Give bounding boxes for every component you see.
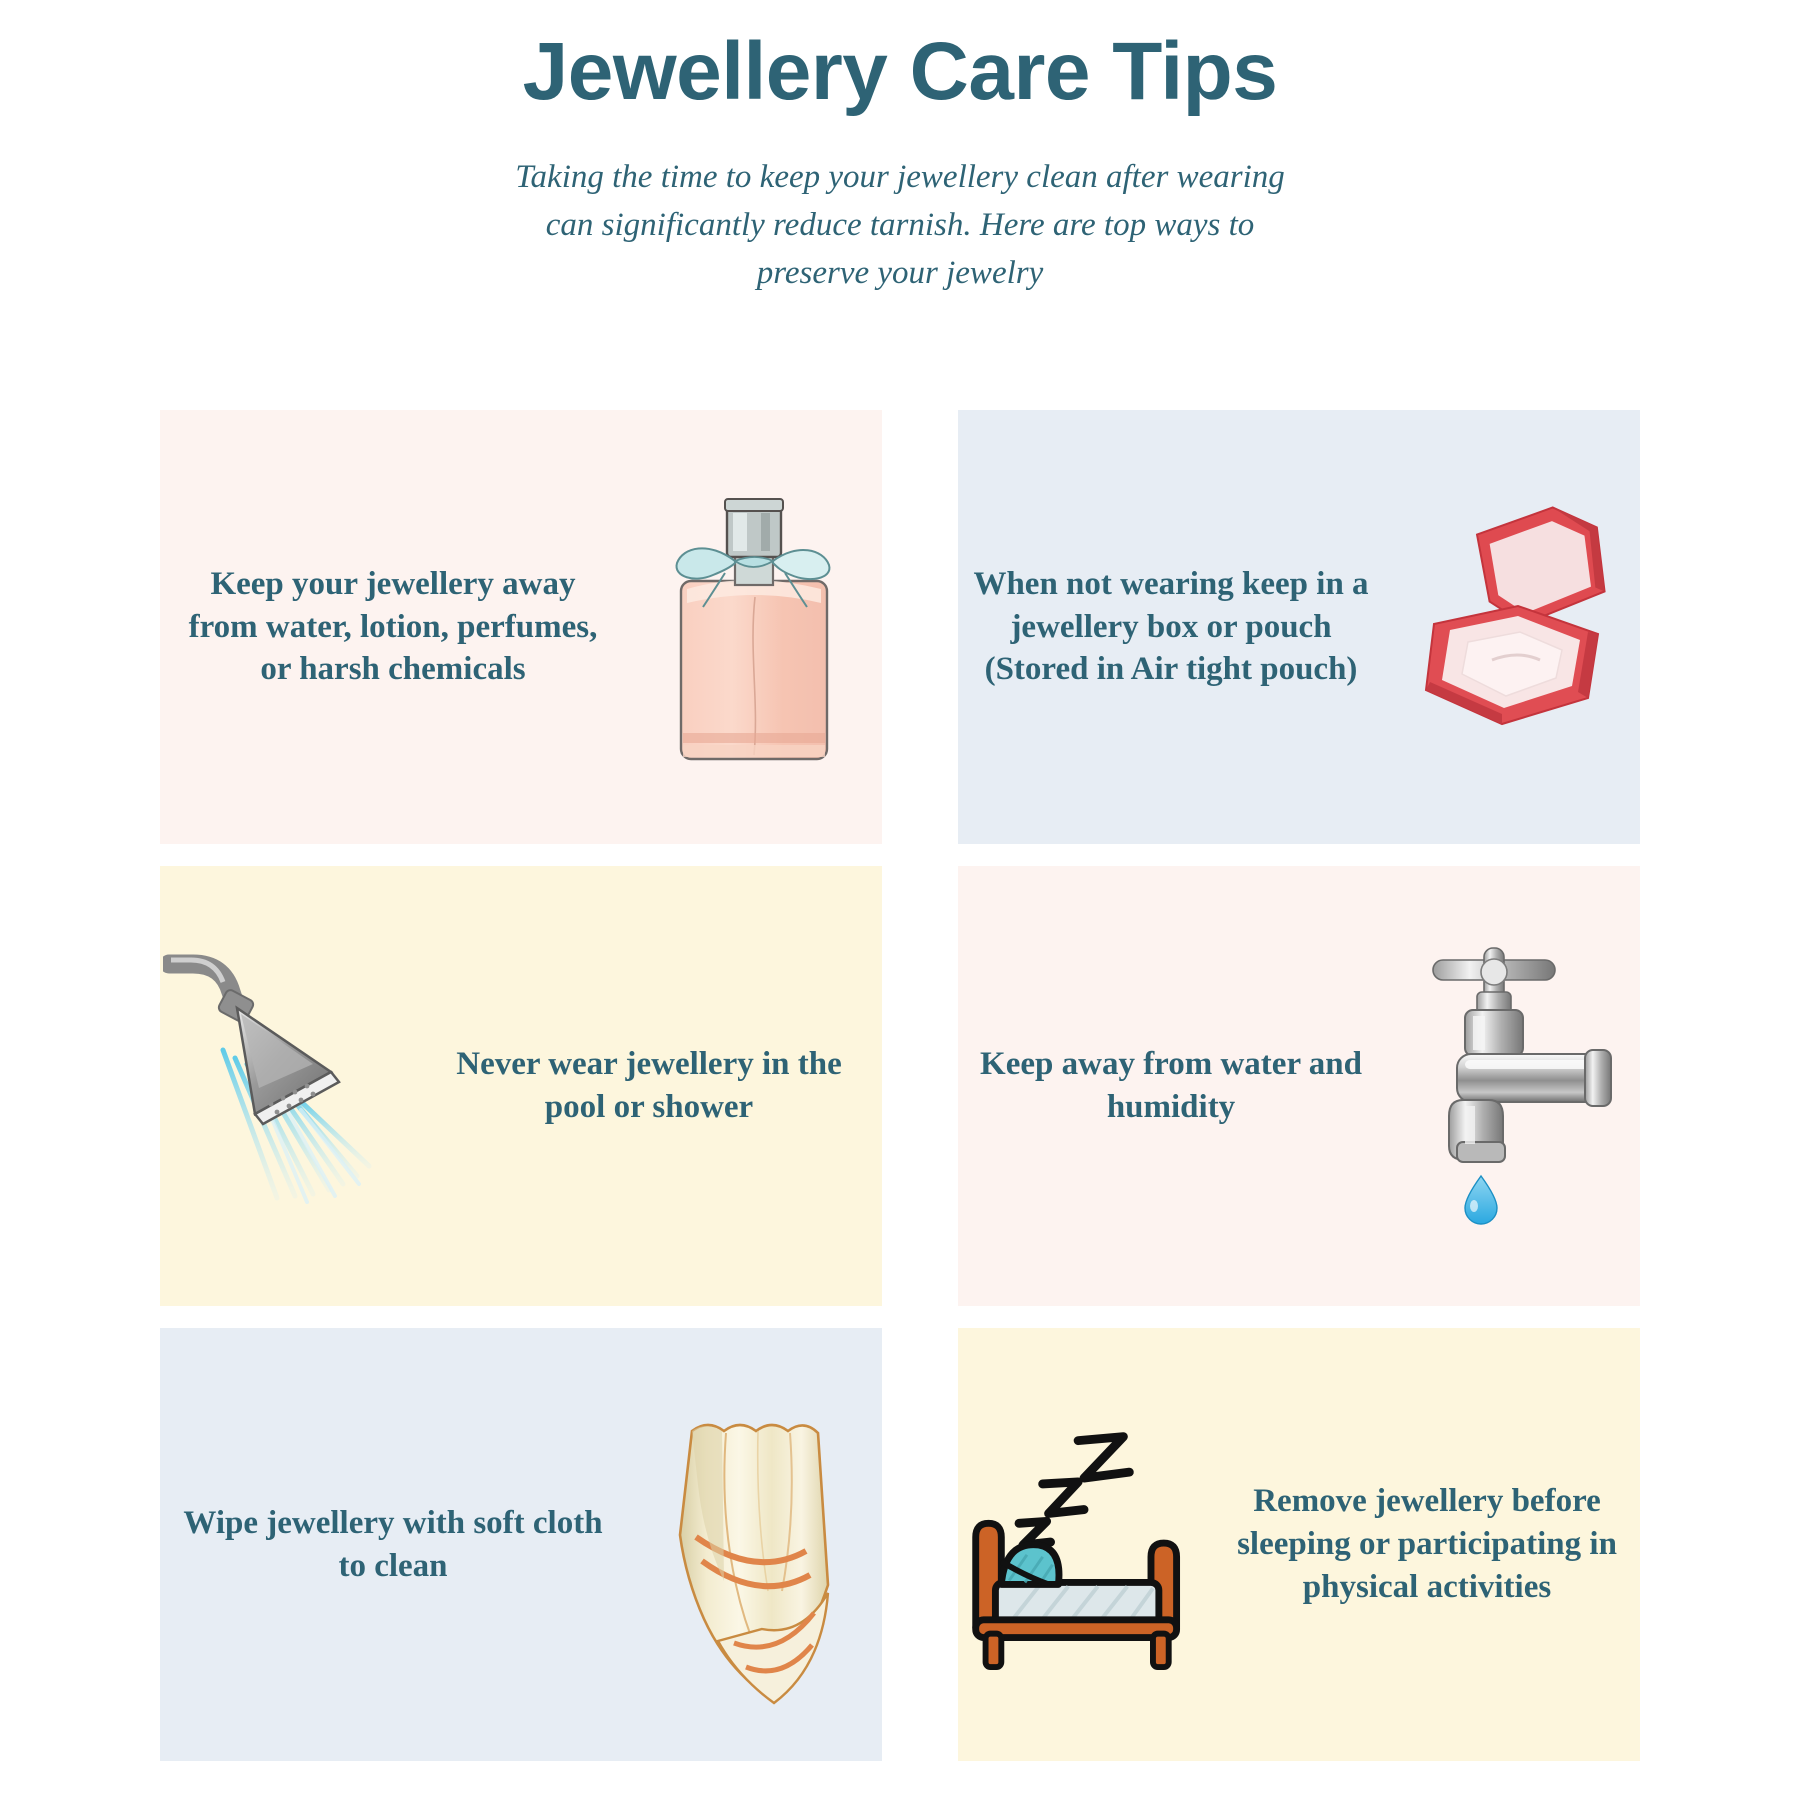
- tip-text-6: Remove jewellery before sleeping or part…: [1214, 1480, 1640, 1609]
- tip-card-ring-box: When not wearing keep in a jewellery box…: [958, 410, 1640, 844]
- tip-cell-3: Never wear jewellery in the pool or show…: [160, 866, 900, 1328]
- tip-cell-4: Keep away from water and humidity: [900, 866, 1640, 1328]
- tip-text-2: When not wearing keep in a jewellery box…: [958, 563, 1384, 692]
- tip-text-4: Keep away from water and humidity: [958, 1043, 1384, 1129]
- infographic-page: Jewellery Care Tips Taking the time to k…: [0, 0, 1800, 1800]
- ring-box-icon: [1384, 410, 1640, 844]
- tip-text-3: Never wear jewellery in the pool or show…: [416, 1043, 882, 1129]
- tip-text-1: Keep your jewellery away from water, lot…: [160, 563, 626, 692]
- page-title: Jewellery Care Tips: [0, 26, 1800, 118]
- tip-card-cloth: Wipe jewellery with soft cloth to clean: [160, 1328, 882, 1761]
- tip-cell-5: Wipe jewellery with soft cloth to clean: [160, 1328, 900, 1783]
- tip-card-faucet: Keep away from water and humidity: [958, 866, 1640, 1306]
- tip-card-shower: Never wear jewellery in the pool or show…: [160, 866, 882, 1306]
- tip-cell-1: Keep your jewellery away from water, lot…: [160, 410, 900, 866]
- bed-sleeping-icon: [958, 1328, 1214, 1761]
- faucet-icon: [1384, 866, 1640, 1306]
- perfume-bottle-icon: [626, 410, 882, 844]
- tip-card-bed: Remove jewellery before sleeping or part…: [958, 1328, 1640, 1761]
- cloth-icon: [626, 1328, 882, 1761]
- shower-head-icon: [160, 866, 416, 1306]
- header: Jewellery Care Tips Taking the time to k…: [0, 0, 1800, 297]
- page-subtitle: Taking the time to keep your jewellery c…: [500, 154, 1300, 298]
- tip-cell-6: Remove jewellery before sleeping or part…: [900, 1328, 1640, 1783]
- tip-text-5: Wipe jewellery with soft cloth to clean: [160, 1502, 626, 1588]
- tip-cell-2: When not wearing keep in a jewellery box…: [900, 410, 1640, 866]
- tip-card-perfume: Keep your jewellery away from water, lot…: [160, 410, 882, 844]
- tips-grid: Keep your jewellery away from water, lot…: [160, 410, 1640, 1783]
